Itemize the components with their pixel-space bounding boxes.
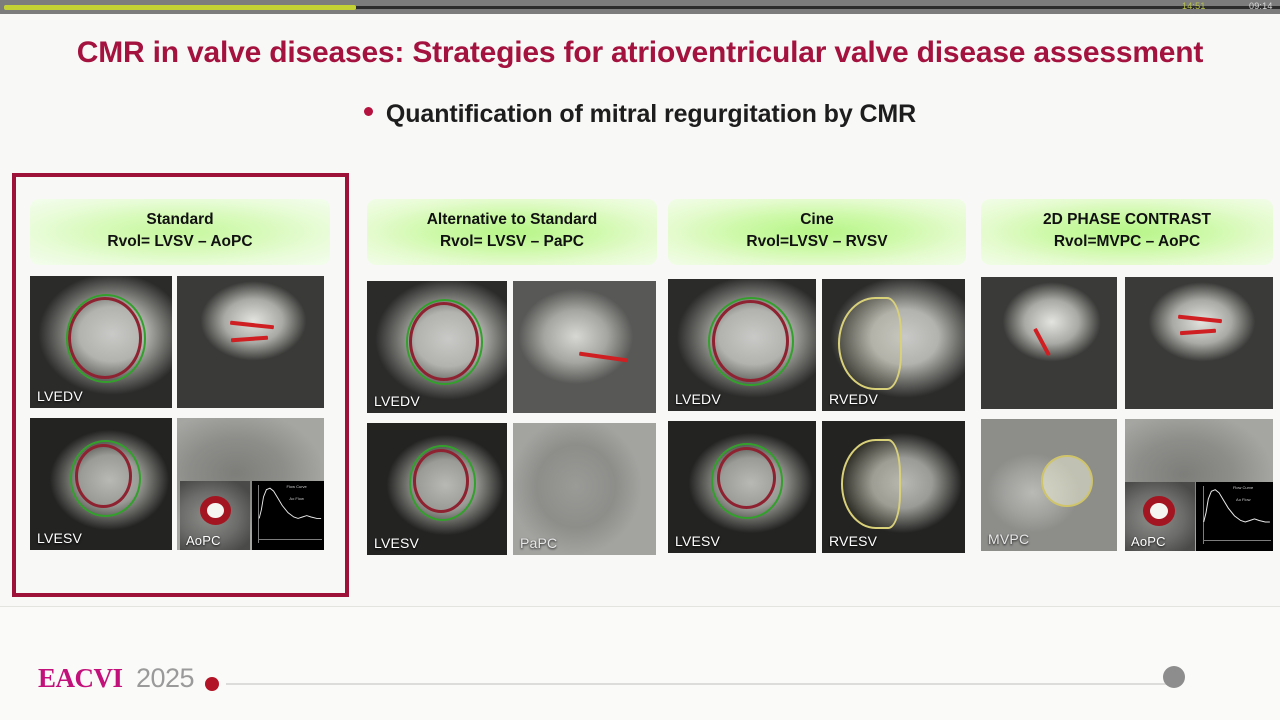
column-header-formula: Rvol= LVSV – AoPC: [36, 231, 324, 253]
column-header-title: Cine: [674, 209, 960, 231]
mri-panel-long-axis-valve[interactable]: [177, 276, 324, 408]
mri-panel-lvesv[interactable]: LVESV: [367, 423, 507, 555]
column-header-title: Standard: [36, 209, 324, 231]
mri-panel-lvesv[interactable]: LVESV: [30, 418, 172, 550]
column-phase-contrast: 2D PHASE CONTRAST Rvol=MVPC – AoPC MVPC: [981, 199, 1273, 551]
column-header-phase-contrast: 2D PHASE CONTRAST Rvol=MVPC – AoPC: [981, 199, 1273, 265]
mri-panel-pulmonary-phase-contrast[interactable]: PaPC: [513, 423, 656, 555]
video-player-bar[interactable]: 14:51 09:14: [0, 0, 1280, 14]
mri-panel-label: LVESV: [374, 535, 419, 551]
mri-panel-label: RVEDV: [829, 391, 878, 407]
eacvi-logo-text: EACVI: [38, 663, 123, 694]
progress-elapsed-fill: [4, 5, 356, 10]
mri-panel-lvesv[interactable]: LVESV: [668, 421, 816, 553]
mri-panel-label: PaPC: [520, 535, 557, 551]
column-alternative: Alternative to Standard Rvol= LVSV – PaP…: [367, 199, 657, 555]
inset-aopc[interactable]: AoPC: [180, 481, 251, 550]
mri-panel-aortic-phase-contrast[interactable]: AoPC Flow Curve Ao Flow: [1125, 419, 1273, 551]
column-cine: Cine Rvol=LVSV – RVSV LVEDV RVEDV LVESV …: [668, 199, 966, 553]
flow-curve-plot: [1196, 482, 1273, 528]
aortic-roi-contour: [1143, 496, 1175, 526]
mri-panel-lvedv[interactable]: LVEDV: [30, 276, 172, 408]
inset-flow-curve[interactable]: Flow Curve Ao Flow: [1196, 482, 1273, 551]
mri-panel-long-axis-valve[interactable]: [1125, 277, 1273, 409]
column-header-standard: Standard Rvol= LVSV – AoPC: [30, 199, 330, 265]
column-header-title: 2D PHASE CONTRAST: [987, 209, 1267, 231]
subtitle-row: Quantification of mitral regurgitation b…: [0, 100, 1280, 129]
column-header-title: Alternative to Standard: [373, 209, 651, 231]
column-header-alternative: Alternative to Standard Rvol= LVSV – PaP…: [367, 199, 657, 265]
mri-panel-long-axis-mitral[interactable]: [981, 277, 1117, 409]
elapsed-time-label: 14:51: [1182, 1, 1206, 11]
page-title: CMR in valve diseases: Strategies for at…: [0, 36, 1280, 70]
mri-panel-label: RVESV: [829, 533, 877, 549]
logo-dot-icon: [205, 677, 219, 691]
total-time-label: 09:14: [1249, 1, 1273, 11]
progress-remaining-fill: [356, 6, 1280, 9]
mri-panel-aortic-phase-contrast[interactable]: AoPC Flow Curve Ao Flow: [177, 418, 324, 550]
mri-panel-label: LVEDV: [374, 393, 420, 409]
eacvi-logo-year: 2025: [136, 663, 194, 694]
mri-panel-lvedv[interactable]: LVEDV: [668, 279, 816, 411]
mri-panel-label: LVESV: [675, 533, 720, 549]
column-header-formula: Rvol=LVSV – RVSV: [674, 231, 960, 253]
footer-bar: EACVI 2025: [0, 606, 1280, 720]
column-header-formula: Rvol=MVPC – AoPC: [987, 231, 1267, 253]
inset-label-aopc: AoPC: [186, 533, 221, 548]
image-grid-alternative: LVEDV LVESV PaPC: [367, 281, 657, 555]
image-grid-phase-contrast: MVPC AoPC Flow Curve Ao Flow: [981, 277, 1273, 551]
aortic-roi-contour: [200, 496, 231, 525]
slide-progress-track[interactable]: [226, 683, 1170, 685]
inset-flow-curve[interactable]: Flow Curve Ao Flow: [252, 481, 324, 550]
inset-aopc[interactable]: AoPC: [1125, 482, 1195, 551]
mri-panel-label: MVPC: [988, 531, 1029, 547]
mri-panel-label: LVEDV: [37, 388, 83, 404]
subtitle-text: Quantification of mitral regurgitation b…: [386, 100, 916, 129]
mri-panel-rvedv[interactable]: RVEDV: [822, 279, 965, 411]
mri-panel-label: LVESV: [37, 530, 82, 546]
inset-label-aopc: AoPC: [1131, 534, 1166, 549]
image-grid-standard: LVEDV LVESV AoPC Flow: [30, 276, 330, 550]
column-header-cine: Cine Rvol=LVSV – RVSV: [668, 199, 966, 265]
column-standard: Standard Rvol= LVSV – AoPC LVEDV LVESV: [30, 199, 330, 550]
slide-canvas: CMR in valve diseases: Strategies for at…: [0, 14, 1280, 606]
slide-progress-knob[interactable]: [1163, 666, 1185, 688]
mri-panel-lvot-valve[interactable]: [513, 281, 656, 413]
flow-curve-plot: [252, 481, 324, 524]
column-header-formula: Rvol= LVSV – PaPC: [373, 231, 651, 253]
image-grid-cine: LVEDV RVEDV LVESV RVESV: [668, 279, 966, 553]
mri-panel-rvesv[interactable]: RVESV: [822, 421, 965, 553]
mri-panel-mitral-phase-contrast[interactable]: MVPC: [981, 419, 1117, 551]
mri-panel-lvedv[interactable]: LVEDV: [367, 281, 507, 413]
bullet-dot-icon: [364, 107, 373, 116]
mri-panel-label: LVEDV: [675, 391, 721, 407]
